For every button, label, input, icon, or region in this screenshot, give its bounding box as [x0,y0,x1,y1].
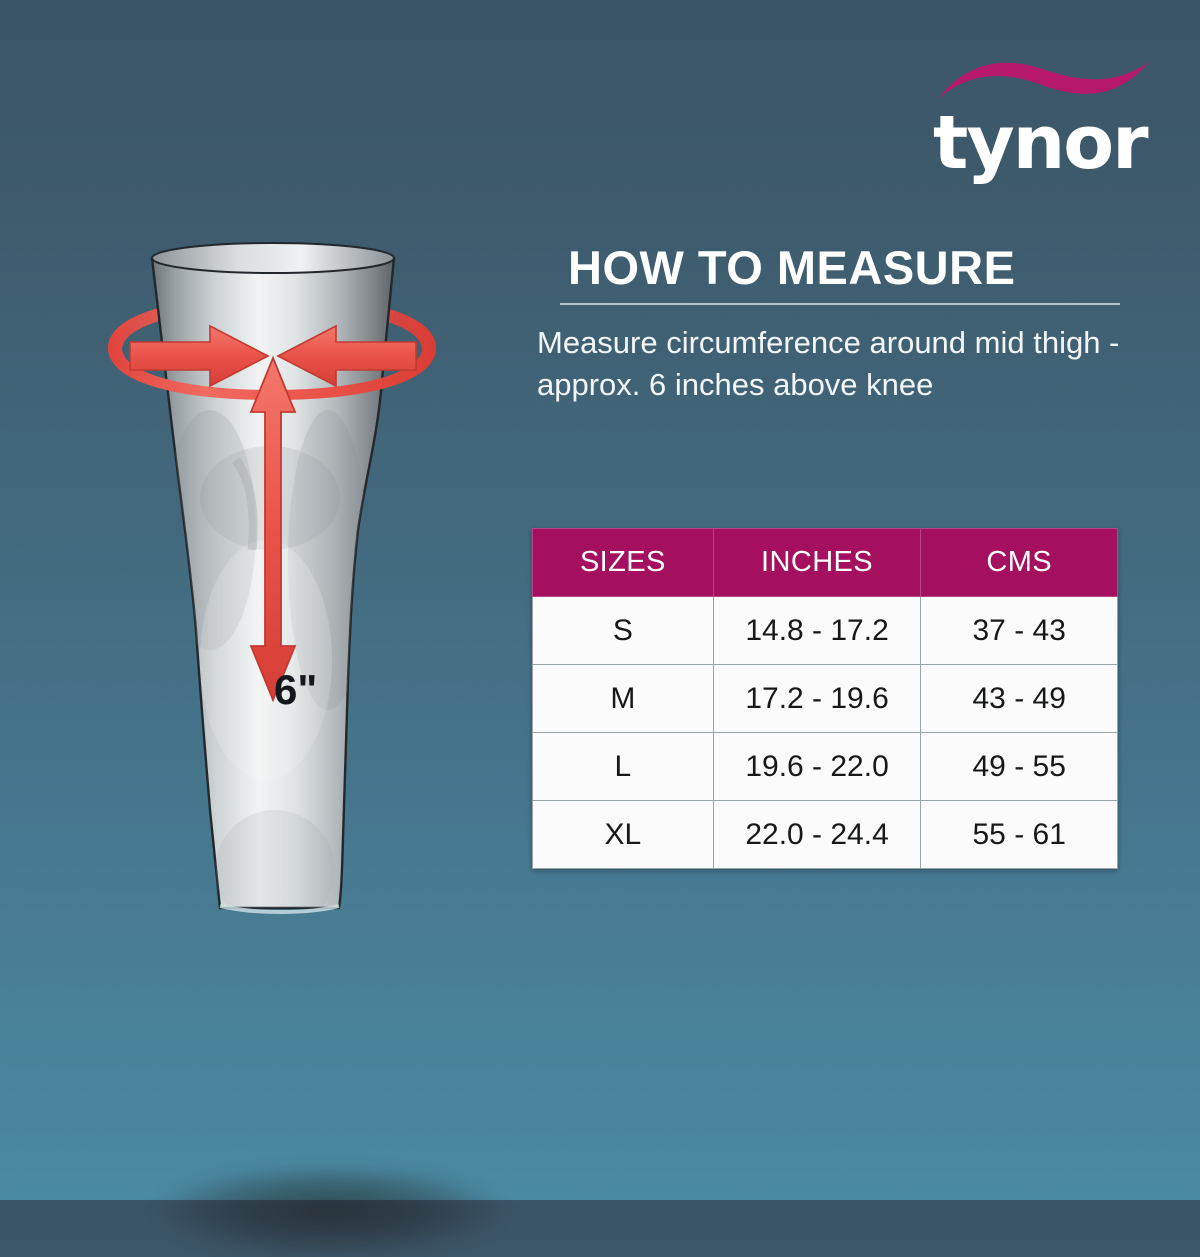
size-chart-table: SIZES INCHES CMS S 14.8 - 17.2 37 - 43 M… [532,528,1118,869]
cell-inches: 22.0 - 24.4 [713,801,921,869]
page-title: HOW TO MEASURE [568,240,1128,295]
column-header-inches: INCHES [713,529,921,597]
table-row: M 17.2 - 19.6 43 - 49 [533,665,1118,733]
title-divider [560,303,1120,305]
ground-shadow [155,1165,505,1257]
cell-cms: 37 - 43 [921,597,1118,665]
leg-diagram-svg [60,230,480,1030]
six-inch-label: 6" [274,666,317,714]
cell-size: S [533,597,714,665]
cell-inches: 19.6 - 22.0 [713,733,921,801]
cell-size: XL [533,801,714,869]
cell-cms: 55 - 61 [921,801,1118,869]
table-header-row: SIZES INCHES CMS [533,529,1118,597]
cell-cms: 49 - 55 [921,733,1118,801]
leg-illustration: 6" [60,230,480,1030]
cell-inches: 17.2 - 19.6 [713,665,921,733]
table-row: XL 22.0 - 24.4 55 - 61 [533,801,1118,869]
cell-size: L [533,733,714,801]
column-header-sizes: SIZES [533,529,714,597]
measure-description: Measure circumference around mid thigh -… [537,322,1133,405]
brand-logo: tynor [925,48,1165,178]
cell-inches: 14.8 - 17.2 [713,597,921,665]
column-header-cms: CMS [921,529,1118,597]
cell-size: M [533,665,714,733]
table-row: S 14.8 - 17.2 37 - 43 [533,597,1118,665]
cell-cms: 43 - 49 [921,665,1118,733]
logo-wordmark: tynor [933,106,1163,180]
table-row: L 19.6 - 22.0 49 - 55 [533,733,1118,801]
